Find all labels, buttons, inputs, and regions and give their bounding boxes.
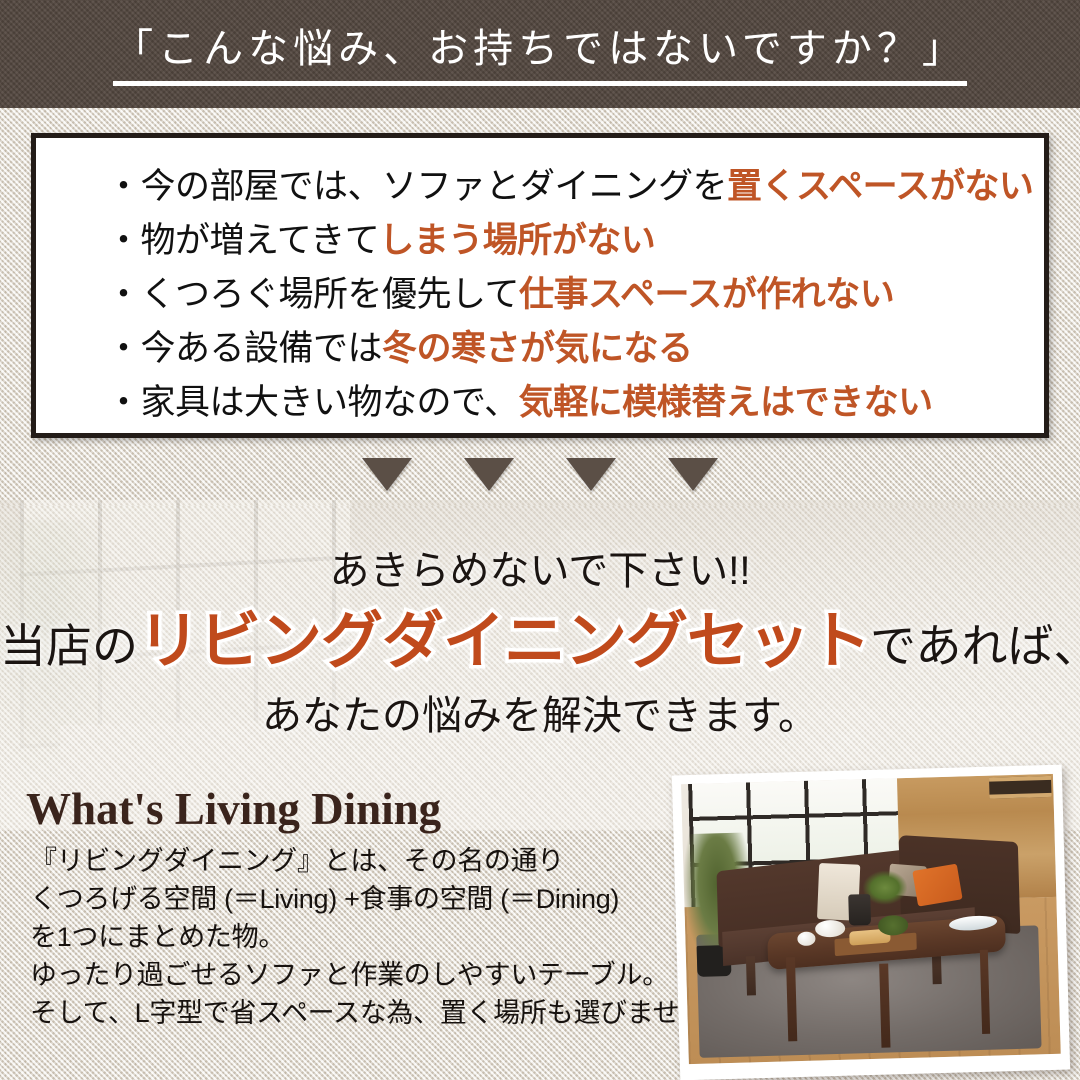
list-item: ・今の部屋では、ソファとダイニングを置くスペースがない: [36, 160, 1044, 214]
list-item: ・今ある設備では冬の寒さが気になる: [36, 322, 1044, 376]
section-body: 『リビングダイニング』とは、その名の通り くつろげる空間 (＝Living) +…: [30, 842, 670, 1032]
bullet-text: ・くつろぐ場所を優先して: [106, 275, 519, 314]
body-line: くつろげる空間 (＝Living) +食事の空間 (＝Dining): [30, 880, 670, 918]
page-header: 「こんな悩み、お持ちではないですか？」: [0, 0, 1080, 108]
list-item: ・くつろぐ場所を優先して仕事スペースが作れない: [36, 268, 1044, 322]
triangle-down-icon: [668, 458, 718, 491]
headline-line-3: あなたの悩みを解決できます。: [0, 692, 1080, 740]
photo-cushion-orange: [912, 863, 962, 906]
problem-list-box: ・今の部屋では、ソファとダイニングを置くスペースがない ・物が増えてきてしまう場…: [31, 133, 1049, 438]
header-underline: [113, 81, 967, 86]
bullet-highlight: 冬の寒さが気になる: [382, 329, 693, 368]
bullet-highlight: 仕事スペースが作れない: [519, 275, 894, 314]
headline-prefix: 当店の: [0, 620, 138, 672]
advertisement-page: 「こんな悩み、お持ちではないですか？」 ・今の部屋では、ソファとダイニングを置く…: [0, 0, 1080, 1080]
bullet-text: ・今ある設備では: [106, 329, 382, 368]
body-line: そして、L字型で省スペースな為、置く場所も選びません。: [30, 994, 670, 1032]
headline-line-1: あきらめないで下さい!!: [0, 548, 1080, 594]
triangle-down-icon: [566, 458, 616, 491]
photo-sofa-leg: [745, 956, 756, 995]
bullet-text: ・今の部屋では、ソファとダイニングを: [106, 167, 727, 206]
header-title: 「こんな悩み、お持ちではないですか？」: [113, 29, 967, 69]
photo-cabinet-shelf: [989, 776, 1052, 799]
body-line: を1つにまとめた物。: [30, 918, 670, 956]
headline-block: あきらめないで下さい!! 当店のリビングダイニングセットであれば、 あなたの悩み…: [0, 548, 1080, 740]
headline-suffix: であれば、: [870, 620, 1080, 672]
headline-line-2: 当店のリビングダイニングセットであれば、: [0, 600, 1080, 684]
list-item: ・物が増えてきてしまう場所がない: [36, 214, 1044, 268]
section-title: What's Living Dining: [26, 783, 441, 835]
list-item: ・家具は大きい物なので、気軽に模様替えはできない: [36, 376, 1044, 430]
arrow-row: [0, 458, 1080, 491]
product-photo-frame: [672, 765, 1070, 1080]
bullet-highlight: しまう場所がない: [379, 221, 655, 260]
bullet-highlight: 置くスペースがない: [727, 167, 1033, 206]
headline-emphasis: リビングダイニングセット: [138, 607, 870, 676]
photo-jug: [848, 894, 871, 925]
bullet-text: ・家具は大きい物なので、: [106, 383, 519, 422]
bullet-text: ・物が増えてきて: [106, 221, 379, 260]
product-photo: [681, 774, 1061, 1064]
bullet-highlight: 気軽に模様替えはできない: [519, 383, 933, 422]
triangle-down-icon: [362, 458, 412, 491]
triangle-down-icon: [464, 458, 514, 491]
body-line: ゆったり過ごせるソファと作業のしやすいテーブル。: [30, 956, 670, 994]
body-line: 『リビングダイニング』とは、その名の通り: [30, 842, 670, 880]
